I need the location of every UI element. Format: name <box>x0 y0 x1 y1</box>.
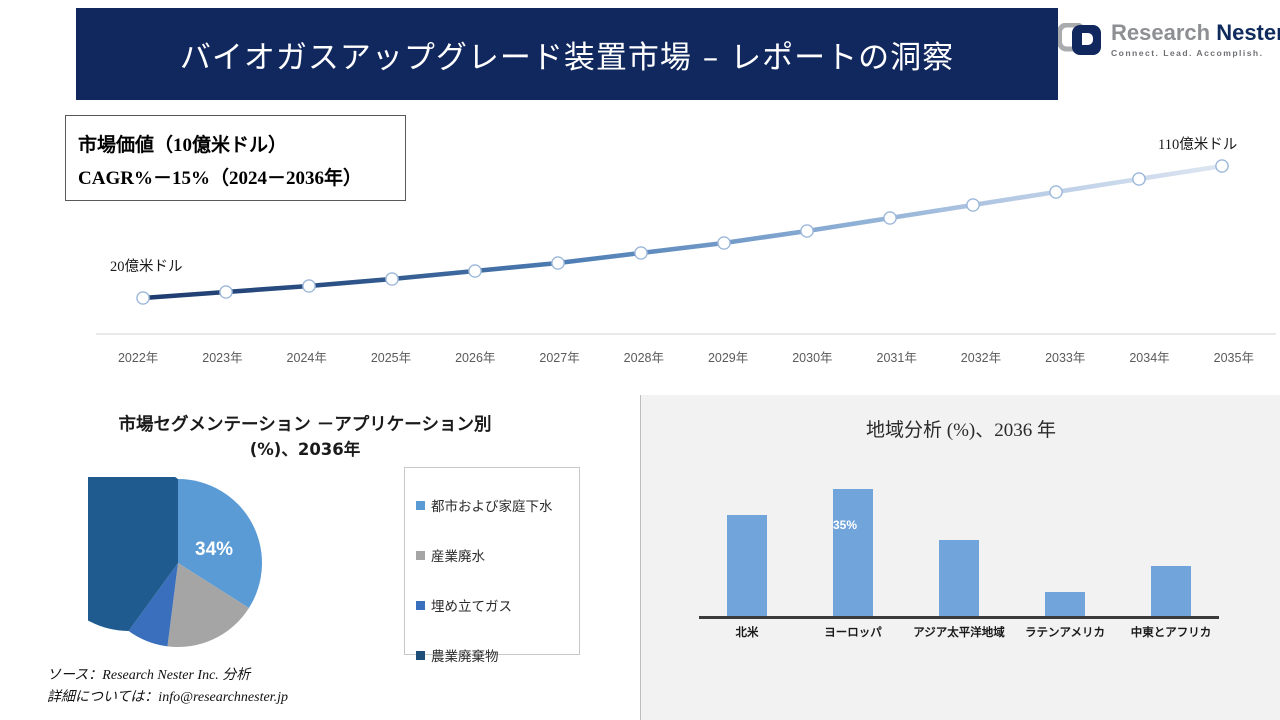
legend-swatch-icon <box>416 551 425 560</box>
pie-chart-svg <box>88 477 268 649</box>
line-series-path <box>143 166 1222 298</box>
x-tick: 2025年 <box>349 347 433 366</box>
legend-item-municipal: 都市および家庭下水 <box>416 480 579 530</box>
bar-label: ラテンアメリカ <box>1014 624 1116 640</box>
regional-bar-chart: 35% <box>694 470 1224 618</box>
bar-chart-baseline <box>699 616 1219 619</box>
bar-column-north-america <box>721 470 773 618</box>
logo-company-name: Research Nester <box>1111 22 1280 44</box>
x-tick: 2023年 <box>180 347 264 366</box>
market-growth-line-chart: 20億米ドル 110億米ドル 2022年 2023年 2024年 2025年 2… <box>0 100 1280 380</box>
source-note: ソース：Research Nester Inc. 分析 詳細については：info… <box>47 665 288 708</box>
x-tick: 2032年 <box>939 347 1023 366</box>
x-axis-tick-labels: 2022年 2023年 2024年 2025年 2026年 2027年 2028… <box>96 347 1276 366</box>
bar <box>1151 566 1191 618</box>
application-pie-chart: 34% <box>88 477 268 649</box>
legend-label: 産業廃水 <box>431 545 485 565</box>
bar-label: 中東とアフリカ <box>1120 624 1222 640</box>
pie-legend: 都市および家庭下水 産業廃水 埋め立てガス 農業廃棄物 <box>404 467 580 655</box>
x-tick: 2034年 <box>1107 347 1191 366</box>
line-data-markers <box>137 160 1228 304</box>
regional-analysis-panel: 地域分析 (%)、2036 年 35% 北米 ヨーロッパ アジア太平洋地域 ラテ… <box>640 395 1280 720</box>
x-tick: 2024年 <box>265 347 349 366</box>
bar-column-latin-america <box>1039 470 1091 618</box>
line-chart-svg <box>0 100 1280 380</box>
segmentation-title-line2: (%)、2036年 <box>250 440 361 459</box>
x-tick: 2033年 <box>1023 347 1107 366</box>
company-logo: Research Nester Connect. Lead. Accomplis… <box>1058 14 1276 66</box>
bar-value-label: 35% <box>833 518 857 532</box>
bar-label: 北米 <box>696 624 798 640</box>
bar <box>727 515 767 618</box>
legend-swatch-icon <box>416 601 425 610</box>
regional-analysis-title: 地域分析 (%)、2036 年 <box>641 415 1280 442</box>
x-tick: 2022年 <box>96 347 180 366</box>
bar <box>833 489 873 618</box>
legend-item-landfill: 埋め立てガス <box>416 580 579 630</box>
header-banner: バイオガスアップグレード装置市場 – レポートの洞察 <box>76 8 1058 100</box>
logo-tagline: Connect. Lead. Accomplish. <box>1111 49 1280 58</box>
segmentation-title: 市場セグメンテーション －アプリケーション別 (%)、2036年 <box>0 413 610 464</box>
bar-column-asia-pacific <box>933 470 985 618</box>
logo-word-research: Research <box>1111 20 1210 45</box>
x-tick: 2027年 <box>517 347 601 366</box>
page-title: バイオガスアップグレード装置市場 – レポートの洞察 <box>180 32 954 77</box>
legend-swatch-icon <box>416 651 425 660</box>
segmentation-title-line1: 市場セグメンテーション －アプリケーション別 <box>119 415 492 435</box>
pie-highlight-value: 34% <box>195 539 233 561</box>
legend-label: 都市および家庭下水 <box>431 495 553 515</box>
x-tick: 2028年 <box>602 347 686 366</box>
source-line2: 詳細については：info@researchnester.jp <box>47 687 288 709</box>
x-tick: 2026年 <box>433 347 517 366</box>
bar-label: アジア太平洋地域 <box>908 624 1010 640</box>
x-tick: 2035年 <box>1192 347 1276 366</box>
legend-item-agricultural: 農業廃棄物 <box>416 630 579 680</box>
end-value-label: 110億米ドル <box>1158 133 1237 154</box>
bar <box>1045 592 1085 618</box>
x-tick: 2030年 <box>770 347 854 366</box>
research-nester-logo-icon <box>1058 23 1104 57</box>
bar <box>939 540 979 618</box>
legend-label: 埋め立てガス <box>431 595 512 615</box>
source-line1: ソース：Research Nester Inc. 分析 <box>47 665 288 687</box>
legend-item-industrial: 産業廃水 <box>416 530 579 580</box>
segmentation-panel: 市場セグメンテーション －アプリケーション別 (%)、2036年 34% 都市お… <box>0 395 638 720</box>
logo-text: Research Nester Connect. Lead. Accomplis… <box>1111 22 1280 58</box>
x-tick: 2031年 <box>855 347 939 366</box>
bar-chart-category-labels: 北米 ヨーロッパ アジア太平洋地域 ラテンアメリカ 中東とアフリカ <box>694 624 1224 640</box>
legend-swatch-icon <box>416 501 425 510</box>
x-tick: 2029年 <box>686 347 770 366</box>
start-value-label: 20億米ドル <box>110 255 183 276</box>
bar-column-europe: 35% <box>827 470 879 618</box>
bar-label: ヨーロッパ <box>802 624 904 640</box>
logo-word-nester: Nester <box>1216 20 1280 45</box>
bar-column-middle-east-africa <box>1145 470 1197 618</box>
legend-label: 農業廃棄物 <box>431 645 499 665</box>
